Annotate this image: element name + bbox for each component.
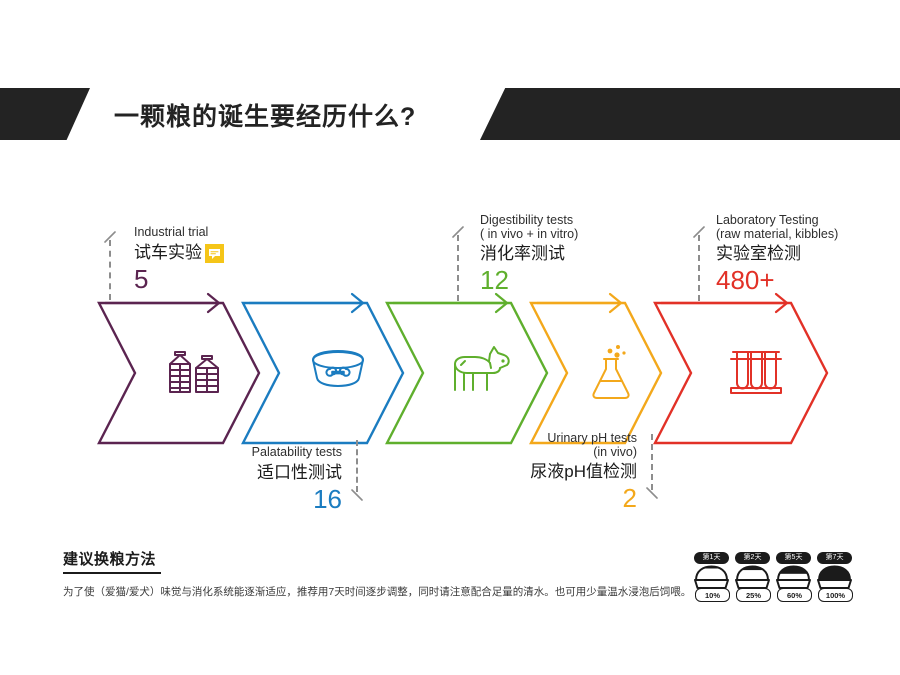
callout-industrial-trial[interactable]: Industrial trial试车实验5 [134, 226, 224, 293]
header-band-right [480, 88, 900, 140]
callout-count: 5 [134, 265, 224, 293]
transition-percent-badge: 25% [736, 588, 771, 602]
callout-leader-laboratory-testing [692, 235, 706, 301]
callout-count: 2 [524, 484, 637, 512]
callout-cn-label: 试车实验 [134, 241, 224, 264]
food-bowl-icon [276, 300, 400, 440]
transition-day-badge: 第5天 [776, 552, 811, 564]
callout-digestibility-tests[interactable]: Digestibility tests( in vivo + in vitro)… [480, 214, 578, 294]
callout-en-label: Urinary pH tests [524, 432, 637, 446]
dog-icon [420, 300, 544, 440]
callout-count: 480+ [716, 266, 838, 294]
transition-day-badge: 第7天 [817, 552, 852, 564]
feeding-guide-divider [63, 572, 161, 574]
callout-leader-digestibility-tests [451, 235, 465, 301]
transition-step: 第2天25% [735, 552, 770, 604]
callout-en-sublabel: ( in vivo + in vitro) [480, 228, 578, 242]
callout-en-sublabel: (raw material, kibbles) [716, 228, 838, 242]
transition-percent-badge: 60% [777, 588, 812, 602]
callout-en-label: Industrial trial [134, 226, 224, 240]
callout-leader-palatability-tests [350, 440, 364, 492]
transition-step: 第1天10% [694, 552, 729, 604]
callout-laboratory-testing[interactable]: Laboratory Testing(raw material, kibbles… [716, 214, 838, 294]
callout-cn-label: 适口性测试 [232, 461, 342, 484]
transition-step: 第7天100% [817, 552, 852, 604]
chat-bubble-icon[interactable] [205, 244, 224, 263]
callout-leader-industrial-trial [103, 240, 117, 300]
callout-urinary-ph-tests[interactable]: Urinary pH tests(in vivo)尿液pH值检测2 [524, 432, 637, 512]
silo-icon [132, 300, 256, 440]
callout-en-label: Laboratory Testing [716, 214, 838, 228]
page-title: 一颗粮的诞生要经历什么? [114, 92, 474, 138]
process-flow [0, 300, 900, 440]
callout-en-label: Palatability tests [232, 446, 342, 460]
callout-cn-label: 尿液pH值检测 [524, 460, 637, 483]
callout-leader-urinary-ph-tests [645, 434, 659, 490]
callout-en-sublabel: (in vivo) [524, 446, 637, 460]
infographic-canvas: 一颗粮的诞生要经历什么? Industrial trial试车实验5Palata… [0, 0, 900, 675]
transition-schedule: 第1天10%第2天25%第5天60%第7天100% [694, 552, 854, 604]
callout-count: 12 [480, 266, 578, 294]
transition-percent-badge: 100% [818, 588, 853, 602]
callout-count: 16 [232, 485, 342, 513]
test-tubes-icon [688, 300, 824, 440]
callout-en-label: Digestibility tests [480, 214, 578, 228]
transition-step: 第5天60% [776, 552, 811, 604]
flask-icon [564, 300, 658, 440]
header-band-left [0, 88, 90, 140]
transition-percent-badge: 10% [695, 588, 730, 602]
callout-cn-label: 消化率测试 [480, 242, 578, 265]
feeding-guide-note: 为了使（爱猫/爱犬）味觉与消化系统能逐渐适应，推荐用7天时间逐步调整，同时请注意… [63, 584, 683, 600]
transition-day-badge: 第2天 [735, 552, 770, 564]
transition-day-badge: 第1天 [694, 552, 729, 564]
callout-cn-label: 实验室检测 [716, 242, 838, 265]
callout-palatability-tests[interactable]: Palatability tests适口性测试16 [232, 446, 342, 513]
feeding-guide-heading: 建议换粮方法 [63, 548, 156, 569]
